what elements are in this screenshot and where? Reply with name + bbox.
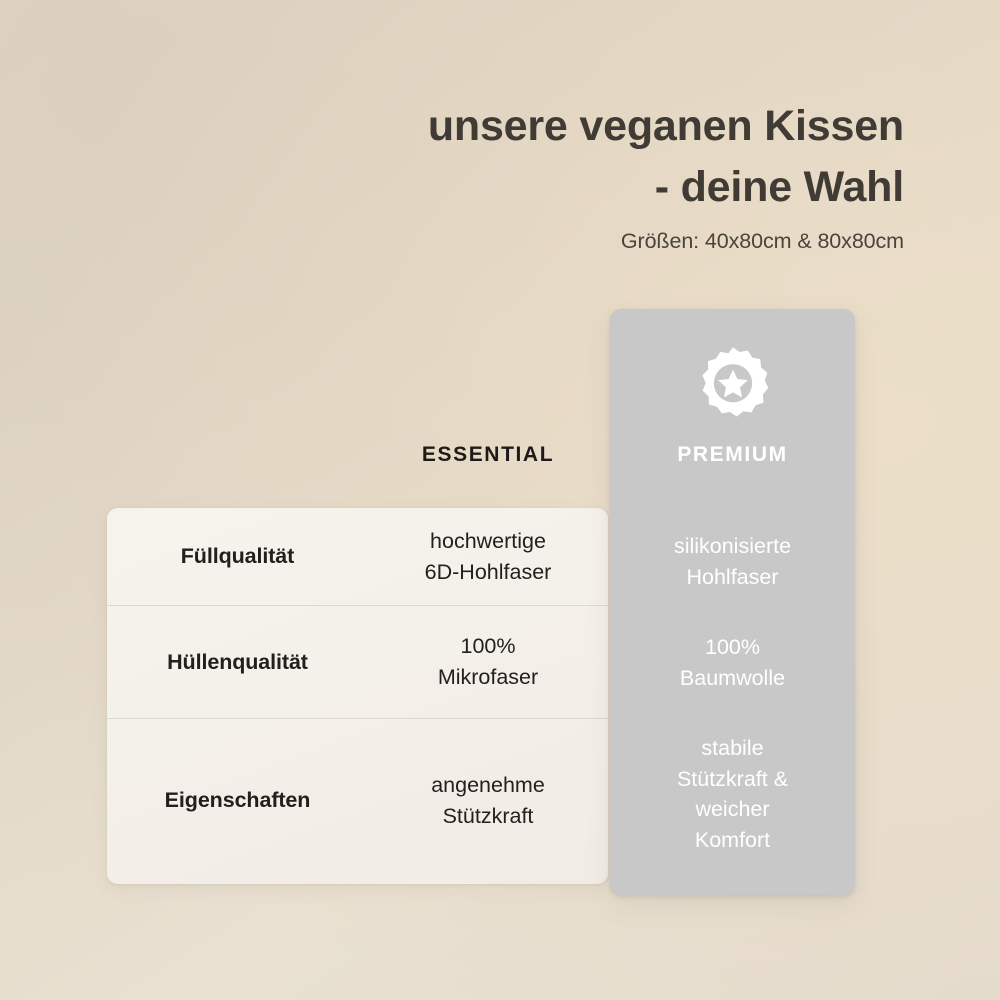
table-row: Hüllenqualität 100% Mikrofaser: [107, 605, 608, 718]
row-label-fuellqualitaet: Füllqualität: [107, 544, 368, 569]
column-header-premium: PREMIUM: [610, 443, 855, 467]
premium-badge: [610, 345, 855, 428]
star-rosette-badge-icon: [694, 345, 772, 423]
premium-value-fuellqualitaet: silikonisierte Hohlfaser: [610, 531, 855, 592]
premium-card: PREMIUM silikonisierte Hohlfaser 100% Ba…: [610, 309, 855, 895]
product-comparison-graphic: unsere veganen Kissen - deine Wahl Größe…: [0, 0, 1000, 1000]
table-row: Füllqualität hochwertige 6D-Hohlfaser: [107, 508, 608, 605]
premium-value-huellenqualitaet: 100% Baumwolle: [610, 632, 855, 693]
essential-table-card: Füllqualität hochwertige 6D-Hohlfaser Hü…: [107, 508, 608, 884]
row-label-eigenschaften: Eigenschaften: [107, 788, 368, 813]
essential-value-huellenqualitaet: 100% Mikrofaser: [368, 631, 608, 692]
column-header-essential: ESSENTIAL: [368, 443, 608, 467]
essential-value-eigenschaften: angenehme Stützkraft: [368, 770, 608, 831]
premium-value-eigenschaften: stabile Stützkraft & weicher Komfort: [610, 733, 855, 855]
comparison-table: ESSENTIAL Füllqualität hochwertige 6D-Ho…: [0, 0, 1000, 1000]
table-row: Eigenschaften angenehme Stützkraft: [107, 718, 608, 882]
row-label-huellenqualitaet: Hüllenqualität: [107, 650, 368, 675]
essential-value-fuellqualitaet: hochwertige 6D-Hohlfaser: [368, 526, 608, 587]
